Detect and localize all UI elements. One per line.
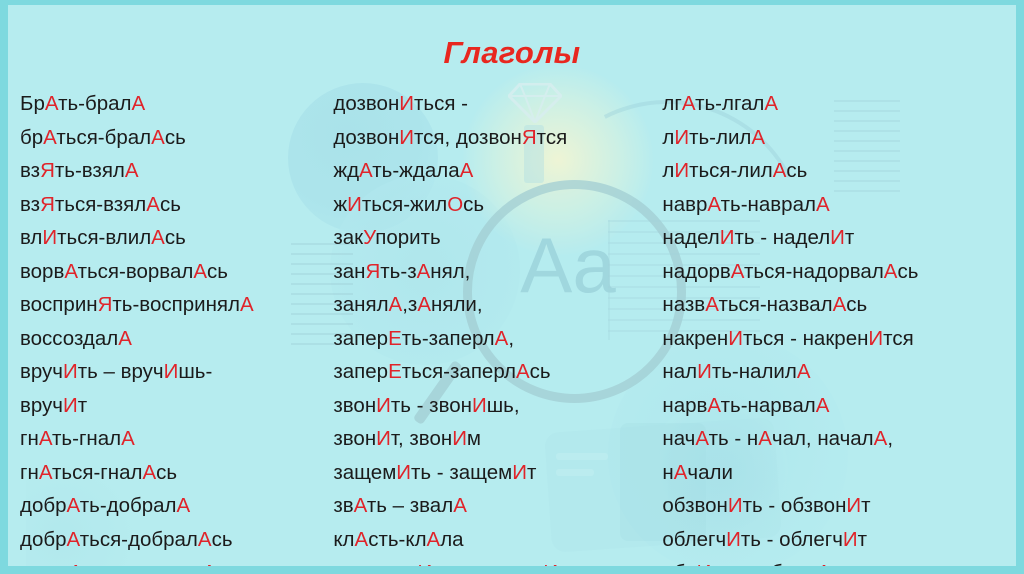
verb-text: сть-кл	[368, 528, 426, 551]
verb-text: т	[858, 528, 867, 551]
stressed-vowel: И	[63, 394, 78, 417]
verb-line: нАчали	[662, 456, 1016, 490]
verb-line: обзвонИть - обзвонИт	[662, 489, 1016, 523]
verb-text: ться-жил	[362, 193, 447, 216]
verb-text: ть – звал	[367, 494, 453, 517]
stressed-vowel: И	[843, 528, 858, 551]
stressed-vowel: И	[726, 528, 741, 551]
verb-line: добрАть-добралА	[20, 489, 331, 523]
verb-text: надорв	[662, 260, 730, 283]
stressed-vowel: И	[42, 226, 57, 249]
verb-text: сь	[831, 561, 852, 566]
stressed-vowel: А	[202, 561, 216, 566]
stressed-vowel: У	[363, 226, 375, 249]
stressed-vowel: А	[764, 92, 778, 115]
stressed-vowel: А	[146, 193, 160, 216]
verb-text: ть - защем	[411, 461, 512, 484]
stressed-vowel: Е	[388, 360, 402, 383]
verb-line: влИться-влилАсь	[20, 221, 331, 255]
verb-line: заперЕть-заперлА,	[333, 322, 662, 356]
verb-text: т, звон	[391, 427, 452, 450]
verb-line: жИться-жилОсь	[333, 188, 662, 222]
verb-text: облегч	[662, 528, 726, 551]
verb-text: сь	[786, 159, 807, 182]
verb-text: звон	[333, 427, 376, 450]
verb-text: зан	[333, 260, 365, 283]
verb-text: сь	[846, 293, 867, 316]
verb-line: дозвонИтся, дозвонЯтся	[333, 121, 662, 155]
verb-line: гнАться-гналАсь	[20, 456, 331, 490]
verb-text: вруч	[20, 394, 63, 417]
slide-content: Глаголы БрАть-бралАбрАться-бралАсьвзЯть-…	[8, 5, 1016, 566]
verb-text: ться-взял	[55, 193, 146, 216]
verb-text: т	[527, 461, 536, 484]
stressed-vowel: И	[697, 561, 712, 566]
stressed-vowel: А	[177, 494, 191, 517]
stressed-vowel: А	[118, 327, 132, 350]
stressed-vowel: И	[543, 561, 558, 566]
verb-text: сь	[216, 561, 237, 566]
verb-line: ворвАться-ворвалАсь	[20, 255, 331, 289]
stressed-vowel: А	[39, 427, 52, 450]
verb-text: ть - обзвон	[743, 494, 847, 517]
verb-text: ,	[508, 327, 514, 350]
verb-text: порить	[375, 226, 440, 249]
verb-text: м	[467, 427, 481, 450]
stressed-vowel: Я	[522, 126, 537, 149]
verb-text: ться -	[414, 92, 468, 115]
stressed-vowel: А	[417, 260, 431, 283]
stressed-vowel: Е	[388, 327, 402, 350]
stressed-vowel: И	[399, 126, 414, 149]
verb-text: ть-гнал	[52, 427, 121, 450]
verb-text: чал, начал	[772, 427, 874, 450]
verb-text: нал	[662, 360, 697, 383]
stressed-vowel: И	[164, 360, 179, 383]
verb-text: ть - облегч	[741, 528, 843, 551]
stressed-vowel: А	[460, 159, 474, 182]
stressed-vowel: А	[674, 461, 688, 484]
stressed-vowel: А	[45, 92, 58, 115]
verb-text: надел	[662, 226, 719, 249]
verb-text: нарв	[662, 394, 707, 417]
verb-line: звонИть - звонИшь,	[333, 389, 662, 423]
verb-text: ться-добрал	[80, 528, 198, 551]
verb-text: тся	[883, 327, 914, 350]
verb-text: запер	[333, 360, 388, 383]
stressed-vowel: А	[833, 293, 847, 316]
stressed-vowel: И	[472, 394, 487, 417]
verb-text: жд	[333, 159, 359, 182]
stressed-vowel: А	[132, 92, 146, 115]
verb-text: занял	[333, 293, 388, 316]
verb-text: вз	[20, 193, 40, 216]
verb-text: т	[78, 394, 87, 417]
verb-text: ть-лил	[689, 126, 751, 149]
verb-text: ть – вруч	[78, 360, 164, 383]
verb-text: дозвон	[333, 92, 399, 115]
stressed-vowel: О	[447, 193, 463, 216]
verb-text: защем	[333, 461, 396, 484]
verb-line: взЯться-взялАсь	[20, 188, 331, 222]
verb-text: чали	[687, 461, 733, 484]
verb-text: ться-заперл	[402, 360, 516, 383]
stressed-vowel: И	[399, 92, 414, 115]
stressed-vowel: И	[674, 126, 689, 149]
stressed-vowel: А	[707, 193, 720, 216]
verb-text: добр	[20, 528, 67, 551]
verb-line: защемИть - защемИт	[333, 456, 662, 490]
stressed-vowel: И	[452, 427, 467, 450]
verb-text: гн	[20, 461, 39, 484]
verb-text: ть-налил	[712, 360, 797, 383]
verb-text: ться-влил	[57, 226, 151, 249]
stressed-vowel: А	[67, 494, 80, 517]
verb-text: ворв	[20, 260, 64, 283]
verb-text: шь,	[487, 394, 520, 417]
verb-column-2: дозвонИться -дозвонИтся, дозвонЯтсяждАть…	[331, 87, 662, 566]
verb-line: ждАть-ждалаА	[333, 154, 662, 188]
verb-text: сь	[212, 528, 233, 551]
stressed-vowel: И	[512, 461, 527, 484]
verb-text: ться-облил	[711, 561, 817, 566]
verb-text: тся	[537, 126, 568, 149]
stressed-vowel: А	[453, 494, 467, 517]
verb-text: добр	[20, 494, 67, 517]
verb-line: закУпорить	[333, 221, 662, 255]
verb-text: т	[845, 226, 854, 249]
verb-text: ться-надорвал	[744, 260, 884, 283]
verb-text: Бр	[20, 92, 45, 115]
stressed-vowel: А	[39, 461, 52, 484]
verb-line: клАсть-клАла	[333, 523, 662, 557]
stressed-vowel: А	[359, 159, 372, 182]
verb-text: ться-дождал	[82, 561, 202, 566]
verb-text: дозвон	[333, 126, 399, 149]
stressed-vowel: Я	[98, 293, 113, 316]
stressed-vowel: А	[198, 528, 212, 551]
stressed-vowel: А	[751, 126, 765, 149]
stressed-vowel: И	[720, 226, 735, 249]
verb-line: добрАться-добралАсь	[20, 523, 331, 557]
verb-text: няли,	[431, 293, 483, 316]
stressed-vowel: А	[43, 126, 56, 149]
verb-text: ть - надел	[735, 226, 831, 249]
verb-text: ть-нарвал	[721, 394, 816, 417]
verb-line: звАть – звалА	[333, 489, 662, 523]
verb-text: зв	[333, 494, 353, 517]
verb-line: БрАть-бралА	[20, 87, 331, 121]
stressed-vowel: А	[354, 494, 367, 517]
stressed-vowel: А	[817, 561, 831, 566]
verb-text: бр	[20, 126, 43, 149]
verb-line: дождАться-дождалАсь	[20, 556, 331, 566]
verb-text: кровоточ	[333, 561, 417, 566]
stressed-vowel: А	[64, 260, 77, 283]
stressed-vowel: А	[125, 159, 139, 182]
verb-text: восприн	[20, 293, 98, 316]
verb-text: дожд	[20, 561, 69, 566]
verb-text: л	[662, 159, 674, 182]
stressed-vowel: И	[830, 226, 845, 249]
stressed-vowel: А	[773, 159, 787, 182]
stressed-vowel: И	[674, 159, 689, 182]
verb-text: гн	[20, 427, 39, 450]
stressed-vowel: И	[347, 193, 362, 216]
stressed-vowel: И	[697, 360, 712, 383]
stressed-vowel: А	[495, 327, 509, 350]
verb-line: гнАть-гналА	[20, 422, 331, 456]
verb-text: воссоздал	[20, 327, 118, 350]
verb-line: брАться-бралАсь	[20, 121, 331, 155]
verb-line: налИть-налилА	[662, 355, 1016, 389]
verb-text: ть-заперл	[402, 327, 495, 350]
stressed-vowel: И	[846, 494, 861, 517]
verb-text: сь	[160, 193, 181, 216]
verb-text: т	[861, 494, 870, 517]
stressed-vowel: А	[389, 293, 403, 316]
stressed-vowel: А	[695, 427, 708, 450]
verb-text: ,	[887, 427, 893, 450]
verb-text: вруч	[20, 360, 63, 383]
verb-line: занЯть-зАнял,	[333, 255, 662, 289]
stressed-vowel: А	[797, 360, 811, 383]
verb-column-1: БрАть-бралАбрАться-бралАсьвзЯть-взялАвзЯ…	[8, 87, 331, 566]
verb-text: сь	[165, 126, 186, 149]
stressed-vowel: А	[682, 92, 695, 115]
verb-line: нарвАть-нарвалА	[662, 389, 1016, 423]
stressed-vowel: А	[142, 461, 156, 484]
verb-text: ть - н	[709, 427, 759, 450]
verb-line: вручИт	[20, 389, 331, 423]
verb-text: лг	[662, 92, 681, 115]
verb-line: воссоздалА	[20, 322, 331, 356]
verb-line: облегчИть - облегчИт	[662, 523, 1016, 557]
verb-text: навр	[662, 193, 707, 216]
verb-line: занялА,зАняли,	[333, 288, 662, 322]
stressed-vowel: А	[884, 260, 898, 283]
verb-line: наврАть-навралА	[662, 188, 1016, 222]
verb-text: обл	[662, 561, 696, 566]
verb-line: лИться-лилАсь	[662, 154, 1016, 188]
verb-text: ть-брал	[58, 92, 131, 115]
stressed-vowel: И	[728, 327, 743, 350]
verb-text: ть - звон	[391, 394, 472, 417]
verb-text: ться-гнал	[52, 461, 142, 484]
verb-line: заперЕться-заперлАсь	[333, 355, 662, 389]
verb-text: ть-ждала	[372, 159, 459, 182]
verb-text: сь	[156, 461, 177, 484]
verb-text: ть-взял	[55, 159, 125, 182]
verb-text: ла	[558, 561, 581, 566]
verb-line: надорвАться-надорвалАсь	[662, 255, 1016, 289]
stressed-vowel: А	[193, 260, 207, 283]
stressed-vowel: А	[151, 126, 165, 149]
stressed-vowel: И	[396, 461, 411, 484]
verb-text: зак	[333, 226, 363, 249]
verb-text: тся, дозвон	[414, 126, 522, 149]
verb-text: накрен	[662, 327, 728, 350]
verb-text: обзвон	[662, 494, 727, 517]
verb-line: облИться-облилАсь	[662, 556, 1016, 566]
verb-text: ться - накрен	[743, 327, 868, 350]
verb-line: назвАться-назвалАсь	[662, 288, 1016, 322]
verb-line: взЯть-взялА	[20, 154, 331, 188]
stressed-vowel: И	[376, 427, 391, 450]
verb-line: лИть-лилА	[662, 121, 1016, 155]
stressed-vowel: И	[63, 360, 78, 383]
verb-line: воспринЯть-воспринялА	[20, 288, 331, 322]
slide-canvas: Aa Глаголы БрАть-бралАбрАться-бралАсьвзЯ…	[8, 5, 1016, 566]
verb-text: ж	[333, 193, 347, 216]
verb-text: ться-назвал	[718, 293, 832, 316]
verb-text: нял,	[430, 260, 470, 283]
stressed-vowel: И	[728, 494, 743, 517]
verb-text: ться-лил	[689, 159, 773, 182]
verb-text: сь	[897, 260, 918, 283]
stressed-vowel: А	[121, 427, 135, 450]
stressed-vowel: Я	[365, 260, 380, 283]
verb-text: ть-лгал	[695, 92, 764, 115]
stressed-vowel: А	[427, 528, 441, 551]
stressed-vowel: А	[758, 427, 772, 450]
verb-text: сь	[463, 193, 484, 216]
verb-column-3: лгАть-лгалАлИть-лилАлИться-лилАсьнаврАть…	[662, 87, 1016, 566]
verb-text: назв	[662, 293, 705, 316]
verb-line: наделИть - наделИт	[662, 221, 1016, 255]
stressed-vowel: И	[868, 327, 883, 350]
verb-text: запер	[333, 327, 388, 350]
verb-line: накренИться - накренИтся	[662, 322, 1016, 356]
verb-text: ться-брал	[56, 126, 151, 149]
verb-line: лгАть-лгалА	[662, 87, 1016, 121]
stressed-vowel: А	[874, 427, 888, 450]
verb-text: шь-	[178, 360, 212, 383]
stressed-vowel: А	[69, 561, 82, 566]
verb-text: ,з	[402, 293, 417, 316]
stressed-vowel: А	[67, 528, 80, 551]
stressed-vowel: А	[816, 394, 830, 417]
verb-text: н	[662, 461, 673, 484]
stressed-vowel: А	[816, 193, 830, 216]
verb-text: ть-добрал	[80, 494, 177, 517]
verb-text: вл	[20, 226, 42, 249]
stressed-vowel: А	[417, 293, 431, 316]
stressed-vowel: А	[707, 394, 720, 417]
verb-text: кл	[333, 528, 354, 551]
stressed-vowel: И	[418, 561, 433, 566]
verb-text: л	[662, 126, 674, 149]
verb-columns: БрАть-бралАбрАться-бралАсьвзЯть-взялАвзЯ…	[8, 87, 1016, 566]
stressed-vowel: Я	[40, 193, 55, 216]
verb-text: ть-воспринял	[112, 293, 240, 316]
verb-text: вз	[20, 159, 40, 182]
stressed-vowel: И	[376, 394, 391, 417]
stressed-vowel: А	[355, 528, 369, 551]
verb-line: дозвонИться -	[333, 87, 662, 121]
verb-text: ть-з	[380, 260, 416, 283]
verb-text: ть-кровоточ	[432, 561, 543, 566]
verb-text: сь	[165, 226, 186, 249]
verb-text: нач	[662, 427, 695, 450]
verb-text: сь	[530, 360, 551, 383]
verb-line: звонИт, звонИм	[333, 422, 662, 456]
verb-text: ться-ворвал	[78, 260, 194, 283]
verb-text: ть-наврал	[721, 193, 816, 216]
verb-line: вручИть – вручИшь-	[20, 355, 331, 389]
verb-text: сь	[207, 260, 228, 283]
page-title: Глаголы	[8, 5, 1016, 71]
stressed-vowel: А	[240, 293, 254, 316]
verb-text: звон	[333, 394, 376, 417]
stressed-vowel: А	[516, 360, 530, 383]
verb-text: ла	[440, 528, 463, 551]
slide: Aa Глаголы БрАть-бралАбрАться-бралАсьвзЯ…	[0, 0, 1024, 574]
stressed-vowel: Я	[40, 159, 55, 182]
stressed-vowel: А	[151, 226, 165, 249]
stressed-vowel: А	[705, 293, 718, 316]
verb-line: кровоточИть-кровоточИла	[333, 556, 662, 566]
verb-line: начАть - нАчал, началА,	[662, 422, 1016, 456]
stressed-vowel: А	[731, 260, 744, 283]
